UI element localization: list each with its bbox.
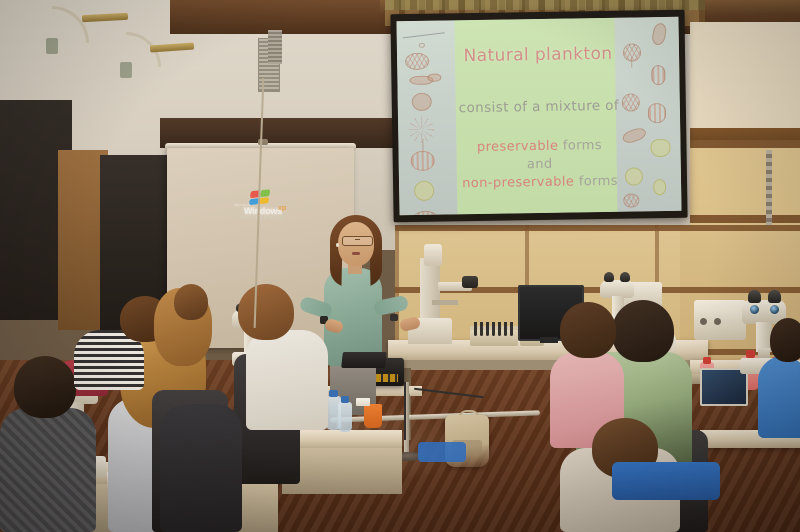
- photograph-lecture-hall: Natural plankton consist of a mixture of…: [0, 0, 800, 532]
- presenter-mouth: [352, 252, 360, 255]
- attendee-right-4-head: [770, 318, 800, 362]
- chair-seat-blue[interactable]: [418, 442, 466, 462]
- desk-center: [282, 430, 402, 450]
- test-tube: [498, 322, 501, 336]
- slide-emph-non-preservable: non-preservable: [462, 174, 574, 191]
- demo-microscope-eyepiece: [462, 276, 478, 288]
- presenter-glasses-bridge: [355, 239, 360, 240]
- test-tube: [480, 322, 483, 336]
- attendee-right-4-torso: [758, 356, 800, 438]
- water-bottle-cap: [341, 396, 349, 403]
- orange-cup[interactable]: [364, 404, 382, 428]
- picture-light-mount-2: [120, 62, 132, 78]
- attendee-center-1-head: [238, 284, 294, 340]
- demo-microscope-stage: [432, 300, 458, 305]
- wall-speaker-grille-secondary: [268, 30, 282, 64]
- windows-xp-logo: Microsoft Windows xp Professional: [232, 190, 294, 224]
- ceiling-slats-highlight: [385, 0, 705, 10]
- picture-light-mount-1: [46, 38, 58, 54]
- reagent-bottle-cap: [703, 357, 711, 364]
- test-tube: [510, 322, 513, 336]
- presenter-laptop[interactable]: [341, 352, 387, 368]
- presenter-earring: [336, 243, 339, 247]
- attendee-left-1-torso: [0, 408, 96, 532]
- attendee-right-1-head: [612, 300, 674, 362]
- test-tube: [486, 322, 489, 336]
- slide-line3-rest: forms: [574, 174, 618, 190]
- slide-emph-preservable: preservable: [477, 139, 559, 155]
- attendee-right-2-head: [560, 302, 616, 358]
- test-tube: [504, 322, 507, 336]
- windows-brand-xp: xp: [278, 205, 286, 212]
- attendee-center-1-torso: [246, 330, 328, 430]
- windows-flag-icon: [249, 189, 274, 207]
- water-bottle-cap: [329, 390, 338, 397]
- demo-microscope-lamp-housing: [424, 244, 442, 266]
- demo-microscope-column: [420, 258, 440, 322]
- bench-monitor-stand: [540, 337, 558, 343]
- windows-brand-edition: Professional: [232, 215, 294, 220]
- attendee-left-1-head: [14, 356, 76, 418]
- slide-line1-rest: forms: [558, 138, 602, 154]
- projector-cable: [404, 382, 406, 440]
- attendee-left-5-head: [174, 284, 208, 320]
- presenter-wristwatch: [390, 314, 398, 321]
- test-tube: [492, 322, 495, 336]
- blue-cloth-on-chair: [612, 462, 720, 500]
- attendee-center-2-torso: [160, 404, 242, 532]
- reagent-bottle-cap: [746, 350, 755, 358]
- lab-instrument-knob[interactable]: [700, 318, 707, 325]
- presenter-glasses: [342, 236, 373, 246]
- test-tube: [474, 322, 477, 336]
- water-bottle[interactable]: [338, 402, 352, 432]
- lab-instrument-knob-2[interactable]: [714, 318, 721, 325]
- presentation-slide: Natural plankton consist of a mixture of…: [396, 17, 681, 215]
- napkin: [356, 398, 370, 406]
- projection-screen: Natural plankton consist of a mixture of…: [390, 10, 687, 223]
- desk-center-edge: [282, 448, 402, 494]
